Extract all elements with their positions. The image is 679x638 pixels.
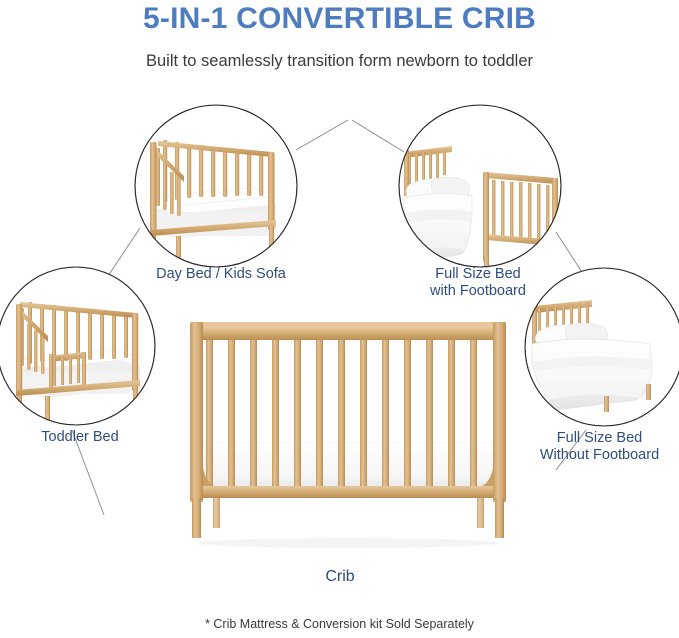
page-title: 5-IN-1 CONVERTIBLE CRIB	[0, 2, 679, 36]
illustrations	[0, 0, 679, 638]
infographic-root: 5-IN-1 CONVERTIBLE CRIB Built to seamles…	[0, 0, 679, 638]
page-subtitle: Built to seamlessly transition form newb…	[0, 52, 679, 71]
footnote-disclaimer: * Crib Mattress & Conversion kit Sold Se…	[0, 617, 679, 631]
label-full-size-bed-with-footboard: Full Size Bed with Footboard	[394, 266, 562, 300]
day-bed-circle-outline	[135, 105, 297, 267]
label-crib: Crib	[245, 568, 435, 585]
day-bed-illustration	[135, 105, 297, 267]
label-day-bed: Day Bed / Kids Sofa	[125, 266, 317, 283]
full-size-with-footboard-circle-outline	[399, 105, 561, 267]
connector-lines	[0, 0, 679, 638]
full-size-with-footboard-illustration	[399, 105, 561, 274]
toddler-bed-illustration	[0, 266, 158, 428]
crib-illustration	[190, 322, 506, 548]
label-full-size-bed-without-footboard: Full Size Bed Without Footboard	[520, 430, 679, 464]
toddler-bed-circle-outline	[0, 267, 155, 425]
label-toddler-bed: Toddler Bed	[0, 429, 160, 446]
